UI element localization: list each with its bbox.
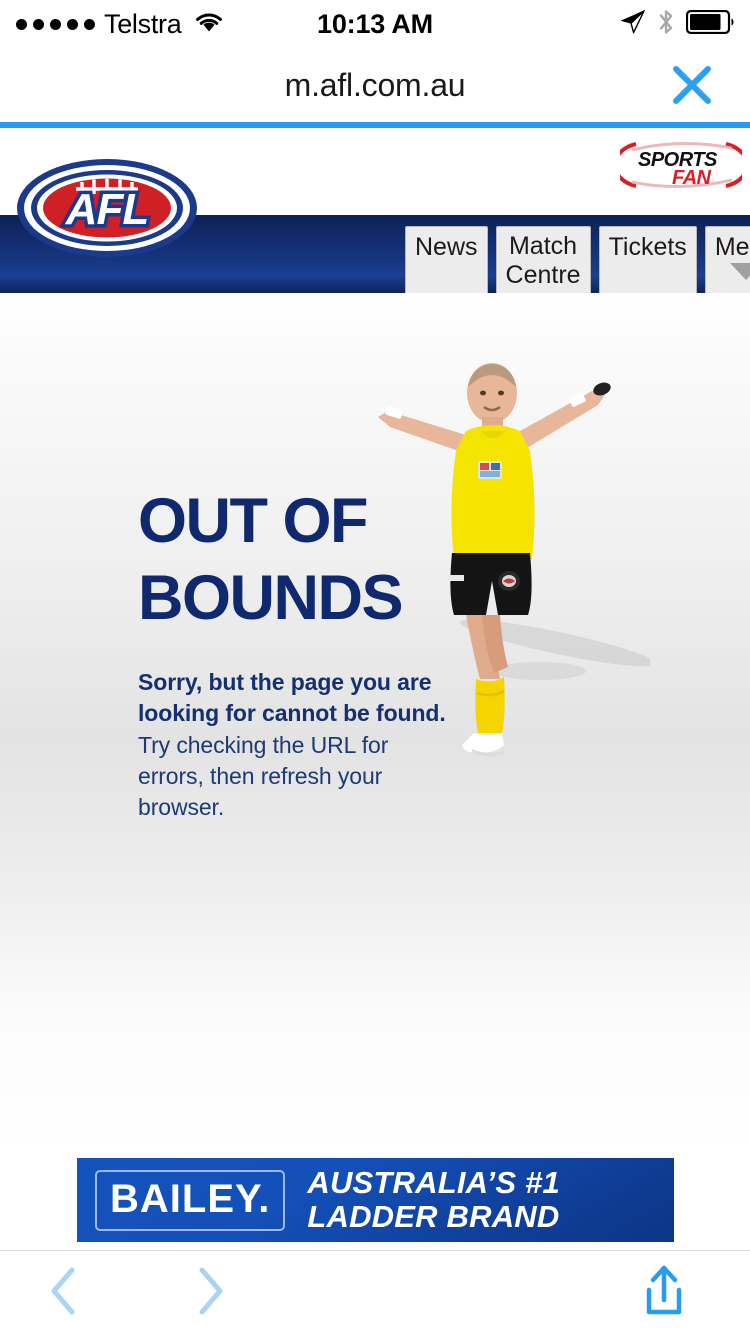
- site-nav: News Match Centre Tickets Menu: [405, 226, 750, 293]
- status-bar-right: [620, 8, 736, 41]
- nav-match-centre-label-line2: Centre: [506, 261, 581, 289]
- location-arrow-icon: [620, 9, 646, 40]
- error-page-content: OUT OF BOUNDS Sorry, but the page you ar…: [0, 293, 750, 1153]
- nav-menu-label: Menu: [715, 233, 750, 261]
- svg-text:AFL: AFL: [65, 185, 149, 234]
- close-icon[interactable]: [664, 57, 720, 113]
- error-title-line2: BOUNDS: [138, 560, 558, 637]
- phone-screen: Telstra 10:13 AM: [0, 0, 750, 1334]
- nav-news-label: News: [415, 233, 478, 261]
- error-title: OUT OF BOUNDS: [138, 483, 558, 637]
- share-icon: [641, 1264, 687, 1323]
- afl-logo[interactable]: AFL AFL: [14, 156, 200, 260]
- svg-text:FAN: FAN: [672, 167, 712, 189]
- browser-bottom-toolbar: [0, 1250, 750, 1334]
- ad-brand-box: BAILEY.: [95, 1170, 285, 1231]
- nav-news-button[interactable]: News: [405, 226, 488, 293]
- nav-menu-button[interactable]: Menu: [705, 226, 750, 293]
- forward-button[interactable]: [168, 1251, 252, 1334]
- ad-brand-label: BAILEY: [110, 1177, 258, 1221]
- error-message-bold-line1: Sorry, but the page you are: [138, 669, 431, 695]
- chevron-down-icon: [730, 263, 750, 280]
- url-text: m.afl.com.au: [285, 67, 466, 104]
- nav-tickets-button[interactable]: Tickets: [599, 226, 697, 293]
- ad-tagline-line1: AUSTRALIA’S #1: [307, 1165, 560, 1200]
- bluetooth-icon: [657, 8, 675, 41]
- nav-match-centre-label-line1: Match: [509, 232, 577, 260]
- nav-tickets-label: Tickets: [609, 233, 687, 261]
- ad-tagline: AUSTRALIA’S #1 LADDER BRAND: [307, 1166, 560, 1234]
- battery-icon: [686, 10, 736, 39]
- share-button[interactable]: [622, 1251, 706, 1334]
- ad-brand-suffix: .: [258, 1177, 270, 1221]
- error-message-bold-line2: looking for cannot be found.: [138, 700, 446, 726]
- browser-url-bar[interactable]: m.afl.com.au: [0, 48, 750, 122]
- back-button[interactable]: [22, 1251, 106, 1334]
- error-title-line1: OUT OF: [138, 486, 367, 556]
- nav-match-centre-button[interactable]: Match Centre: [496, 226, 591, 293]
- error-message-bold: Sorry, but the page you are looking for …: [138, 667, 558, 729]
- ad-banner-bailey[interactable]: BAILEY. AUSTRALIA’S #1 LADDER BRAND: [77, 1158, 674, 1242]
- sportsfan-partner-logo[interactable]: SPORTS FAN: [620, 138, 742, 192]
- site-header: AFL AFL SPORTS FAN News Match Centre: [0, 128, 750, 293]
- status-bar: Telstra 10:13 AM: [0, 0, 750, 48]
- chevron-left-icon: [47, 1265, 81, 1322]
- error-message-hint: Try checking the URL for errors, then re…: [138, 730, 448, 823]
- chevron-right-icon: [193, 1265, 227, 1322]
- error-message-block: OUT OF BOUNDS Sorry, but the page you ar…: [138, 483, 558, 823]
- ad-tagline-line2: LADDER BRAND: [307, 1199, 559, 1234]
